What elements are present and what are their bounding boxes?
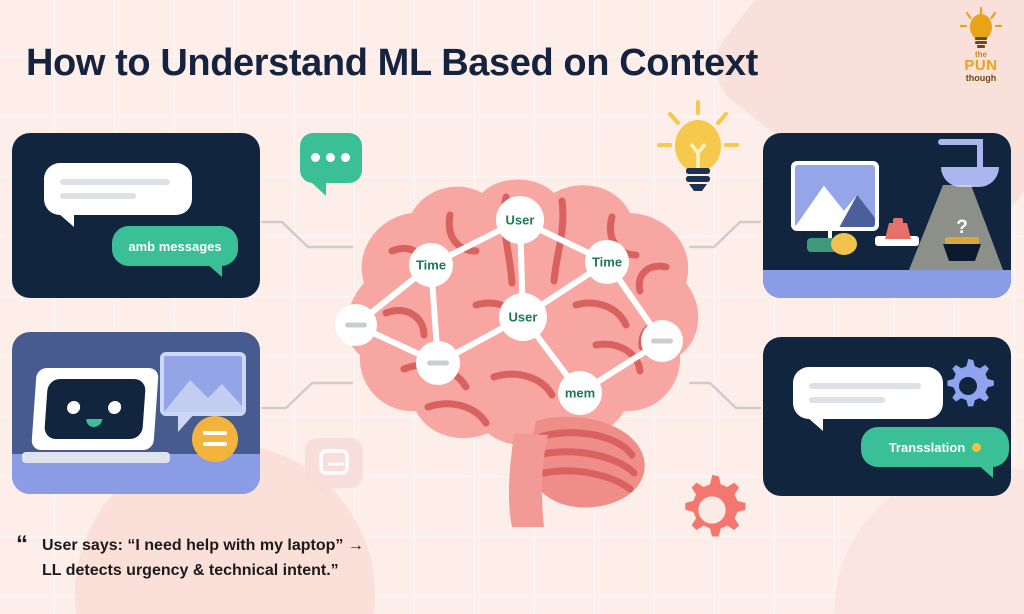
node-placeholder-bar: [345, 323, 367, 328]
brain-network-diagram: UserTimeTimeUsermem: [300, 155, 740, 535]
coin-line: [203, 442, 227, 446]
robot-face-icon: [44, 379, 146, 439]
status-dot: [972, 443, 981, 452]
svg-text:?: ?: [956, 217, 968, 238]
network-node[interactable]: User: [499, 293, 547, 341]
spotlight-lamp-icon: [941, 167, 999, 187]
ambiguous-messages-card[interactable]: amb messages: [12, 133, 260, 298]
robot-eye-right: [108, 401, 122, 414]
coin-menu-icon[interactable]: [192, 416, 238, 462]
chat-bubble-white: [793, 367, 943, 419]
translation-bubble[interactable]: Transslation: [861, 427, 1009, 467]
picture-stand: [828, 223, 832, 239]
laptop-base: [22, 452, 170, 463]
translation-label: Transslation: [889, 440, 966, 455]
translation-card[interactable]: Transslation: [763, 337, 1011, 496]
gear-icon-coral: [676, 475, 748, 545]
bubble-line: [809, 383, 921, 389]
framed-picture-icon: [791, 161, 879, 231]
lamp-arm: [938, 139, 980, 145]
network-node[interactable]: Time: [409, 243, 453, 287]
gallery-spotlight-card[interactable]: ?: [763, 133, 1011, 298]
robot-eye-left: [67, 401, 81, 414]
lightbulb-idea-icon: [655, 100, 741, 197]
example-quote: “ User says: “I need help with my laptop…: [16, 533, 436, 583]
quote-mark: “: [16, 535, 28, 555]
robot-mouth: [86, 419, 103, 427]
chat-bubble-white: [44, 163, 192, 215]
node-label: Time: [416, 258, 446, 273]
network-node[interactable]: [335, 304, 377, 346]
amb-messages-label: amb messages: [128, 239, 221, 254]
quote-line-2: LL detects urgency & technical intent.”: [42, 558, 436, 583]
object-yellow-ball: [831, 233, 857, 255]
node-label: User: [506, 213, 535, 228]
bubble-line: [809, 397, 885, 403]
network-node[interactable]: [416, 341, 460, 385]
node-label: User: [509, 310, 538, 325]
network-node[interactable]: mem: [558, 371, 602, 415]
chat-bubble-outline-icon: [305, 438, 363, 488]
node-placeholder-bar: [427, 361, 449, 366]
network-node[interactable]: User: [496, 196, 544, 244]
node-label: mem: [565, 386, 595, 401]
laptop-icon: [31, 368, 159, 450]
amb-messages-bubble[interactable]: amb messages: [112, 226, 238, 266]
bubble-line: [60, 179, 170, 185]
chat-bubble-dots-icon: [300, 133, 362, 183]
network-node[interactable]: Time: [585, 240, 629, 284]
coin-line: [203, 431, 227, 435]
question-bowl-icon: ?: [935, 211, 989, 263]
card-floor: [763, 270, 1011, 298]
infographic-canvas: How to Understand ML Based on Context th…: [0, 0, 1024, 614]
quote-line-1: User says: “I need help with my laptop” …: [42, 533, 436, 558]
image-bubble-icon: [160, 352, 246, 416]
node-label: Time: [592, 255, 622, 270]
gear-icon[interactable]: [941, 359, 995, 413]
chatbot-laptop-card[interactable]: [12, 332, 260, 494]
node-placeholder-bar: [651, 339, 673, 344]
network-node[interactable]: [641, 320, 683, 362]
bubble-line: [60, 193, 136, 199]
